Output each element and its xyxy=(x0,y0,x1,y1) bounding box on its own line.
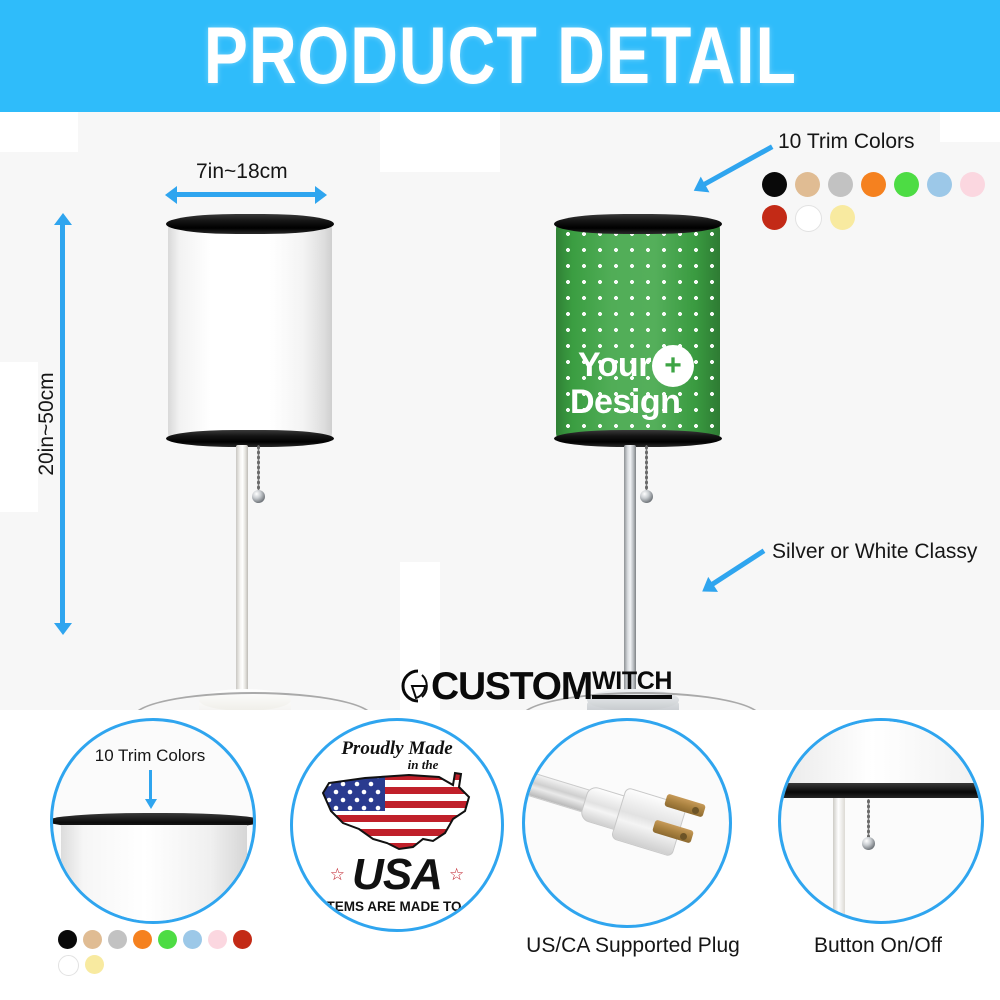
pull-chain-ball-green[interactable] xyxy=(640,490,653,503)
bg-wash-3 xyxy=(380,112,500,172)
feature-button-pole xyxy=(833,798,845,921)
swatch-3[interactable] xyxy=(861,172,886,197)
pull-chain-green[interactable] xyxy=(645,445,648,492)
header-banner: PRODUCT DETAIL xyxy=(0,0,1000,112)
trim-colors-label: 10 Trim Colors xyxy=(778,130,915,154)
bottom-swatch-0[interactable] xyxy=(58,930,77,949)
swatch-1[interactable] xyxy=(795,172,820,197)
usa-star-left: ☆ xyxy=(330,865,345,885)
swatch-4[interactable] xyxy=(894,172,919,197)
feature-button-circle xyxy=(778,718,984,924)
bg-wash-2 xyxy=(0,362,38,512)
usa-big-text: USA xyxy=(352,853,442,897)
trim-bottom-green xyxy=(554,430,722,447)
feature-plug: US/CA Supported Plug xyxy=(508,718,758,1000)
feature-usa-circle: Proudly Made in the xyxy=(290,718,504,932)
width-dimension-label: 7in~18cm xyxy=(196,160,288,184)
swatch-0[interactable] xyxy=(762,172,787,197)
trim-bottom-white xyxy=(166,430,334,447)
bottom-swatch-4[interactable] xyxy=(158,930,177,949)
swatch-8[interactable] xyxy=(795,205,822,232)
feature-plug-circle xyxy=(522,718,732,928)
usa-badge: Proudly Made in the xyxy=(293,721,501,929)
plus-icon: + xyxy=(664,351,682,381)
bottom-swatch-8[interactable] xyxy=(58,955,79,976)
swatch-6[interactable] xyxy=(960,172,985,197)
your-design-line2: Design xyxy=(570,385,680,420)
bg-wash-5 xyxy=(940,112,1000,142)
lampshade-green: Your + Design xyxy=(556,220,720,442)
lamp-green: Your + Design xyxy=(548,202,728,642)
pull-chain-white[interactable] xyxy=(257,445,260,492)
your-design-line1: Your xyxy=(578,348,651,383)
height-dimension-label: 20in~50cm xyxy=(35,354,59,494)
feature-plug-caption: US/CA Supported Plug xyxy=(508,934,758,958)
brand-name-main: CUSTOM xyxy=(431,667,592,706)
page-title: PRODUCT DETAIL xyxy=(203,16,796,97)
usa-star-right: ☆ xyxy=(449,865,464,885)
feature-button-trim xyxy=(778,783,984,798)
pull-chain-ball-white[interactable] xyxy=(252,490,265,503)
feature-button-chain[interactable] xyxy=(867,799,870,839)
bottom-swatch-2[interactable] xyxy=(108,930,127,949)
lampshade-white-surface xyxy=(168,220,332,442)
brand-logo: CUSTOM WITCH xyxy=(392,666,672,706)
feature-shade-body xyxy=(61,825,247,924)
trim-top-white xyxy=(166,214,334,234)
swatch-7[interactable] xyxy=(762,205,787,230)
width-dimension-arrow xyxy=(176,192,316,197)
bottom-swatch-9[interactable] xyxy=(85,955,104,974)
swatch-9[interactable] xyxy=(830,205,855,230)
lampshade-white xyxy=(168,220,332,442)
bottom-swatch-5[interactable] xyxy=(183,930,202,949)
feature-button: Button On/Off xyxy=(768,718,988,1000)
feature-made-in-usa: Proudly Made in the xyxy=(290,718,506,933)
feature-strip: 10 Trim Colors Proudly Made in the xyxy=(0,710,1000,1000)
lamp-white xyxy=(160,202,340,642)
feature-button-caption: Button On/Off xyxy=(768,934,988,958)
product-detail-infographic: PRODUCT DETAIL 7in~18cm 20in~50cm xyxy=(0,0,1000,1000)
usa-tagline-line1: Proudly Made xyxy=(341,739,452,758)
trim-color-swatches-bottom xyxy=(58,930,268,976)
lamp-pole-white xyxy=(236,445,248,705)
custom-witch-c-icon xyxy=(392,666,430,706)
bottom-swatch-6[interactable] xyxy=(208,930,227,949)
feature-button-chain-ball[interactable] xyxy=(862,837,875,850)
swatch-2[interactable] xyxy=(828,172,853,197)
plug-prong-upper-hole xyxy=(692,807,699,814)
brand-name-sub: WITCH xyxy=(592,669,672,699)
feature-trim-colors-arrow xyxy=(149,770,152,800)
feature-trim-colors: 10 Trim Colors xyxy=(40,718,260,1000)
main-product-panel: 7in~18cm 20in~50cm xyxy=(0,112,1000,710)
usa-map-flag-icon xyxy=(313,767,481,859)
base-finish-label: Silver or White Classy xyxy=(772,540,977,564)
feature-trim-colors-inner-label: 10 Trim Colors xyxy=(50,746,250,766)
add-design-badge[interactable]: + xyxy=(652,345,694,387)
usa-made-to-order-note: ALL ITEMS ARE MADE TO ORDER! xyxy=(293,899,501,929)
feature-button-shade xyxy=(778,721,984,787)
bottom-swatch-1[interactable] xyxy=(83,930,102,949)
trim-top-green xyxy=(554,214,722,234)
swatch-5[interactable] xyxy=(927,172,952,197)
bottom-swatch-7[interactable] xyxy=(233,930,252,949)
trim-color-swatches-top xyxy=(762,172,1000,232)
height-dimension-arrow xyxy=(60,224,65,624)
bottom-swatch-3[interactable] xyxy=(133,930,152,949)
bg-wash-1 xyxy=(0,112,78,152)
plug-prong-lower-hole xyxy=(680,833,687,840)
